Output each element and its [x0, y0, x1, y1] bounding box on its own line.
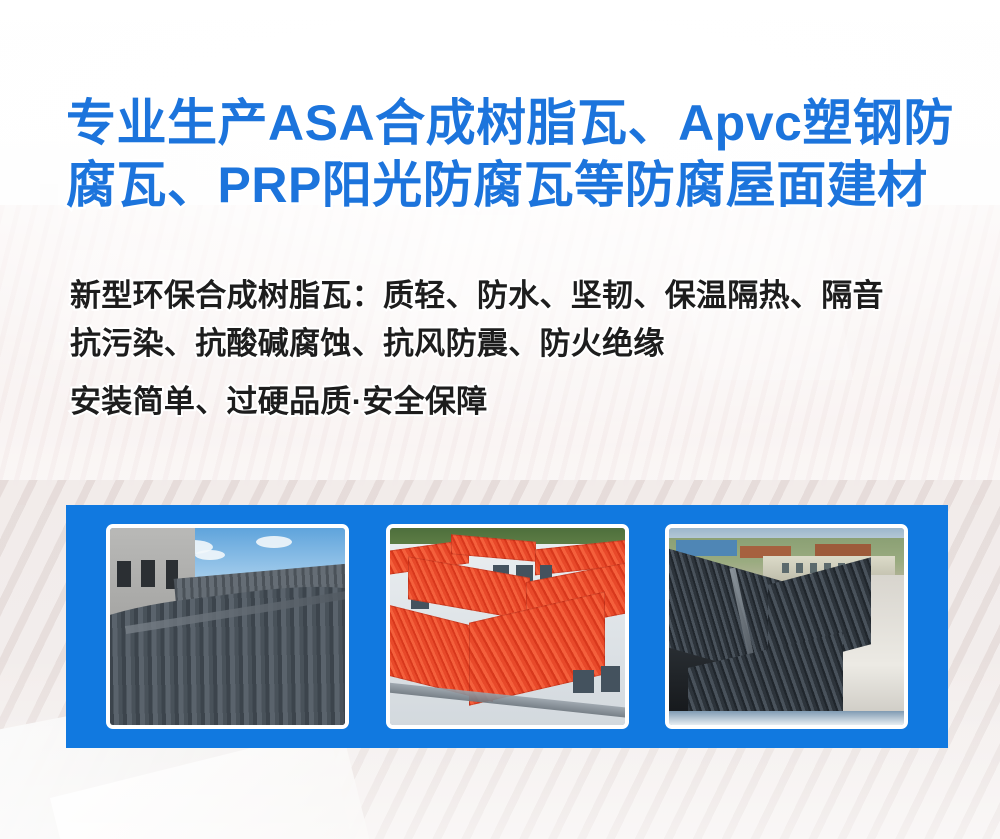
gallery-photo-red-resin-tile-roofs[interactable] — [386, 524, 629, 729]
headline-line-2: 腐瓦、PRP阳光防腐瓦等防腐屋面建材 — [66, 154, 946, 216]
photo-gallery-panel — [66, 505, 948, 748]
subheadline-line-2: 抗污染、抗酸碱腐蚀、抗风防震、防火绝缘 — [70, 320, 960, 368]
photo-image — [669, 528, 904, 725]
photo-image — [110, 528, 345, 725]
gallery-photo-dark-grey-resin-tile-roofs[interactable] — [665, 524, 908, 729]
headline: 专业生产ASA合成树脂瓦、Apvc塑钢防 腐瓦、PRP阳光防腐瓦等防腐屋面建材 — [66, 92, 946, 216]
subheadline-line-3: 安装简单、过硬品质·安全保障 — [70, 378, 960, 426]
photo-image — [390, 528, 625, 725]
subheadline: 新型环保合成树脂瓦：质轻、防水、坚韧、保温隔热、隔音 抗污染、抗酸碱腐蚀、抗风防… — [70, 272, 960, 426]
photo1-cloud — [195, 550, 225, 560]
subheadline-line-1: 新型环保合成树脂瓦：质轻、防水、坚韧、保温隔热、隔音 — [70, 272, 960, 320]
gallery-photo-grey-resin-tile-roof-closeup[interactable] — [106, 524, 349, 729]
photo1-window — [117, 561, 131, 587]
photo3-window — [782, 563, 789, 573]
headline-line-1: 专业生产ASA合成树脂瓦、Apvc塑钢防 — [66, 92, 946, 154]
photo2-window — [601, 666, 620, 692]
photo3-foreground — [669, 711, 904, 725]
photo1-cloud — [256, 536, 292, 548]
photo2-window — [573, 670, 594, 694]
photo3-window — [796, 563, 803, 573]
product-banner: 专业生产ASA合成树脂瓦、Apvc塑钢防 腐瓦、PRP阳光防腐瓦等防腐屋面建材 … — [0, 0, 1000, 839]
photo1-window — [141, 560, 155, 588]
photo3-red-building — [815, 544, 871, 556]
